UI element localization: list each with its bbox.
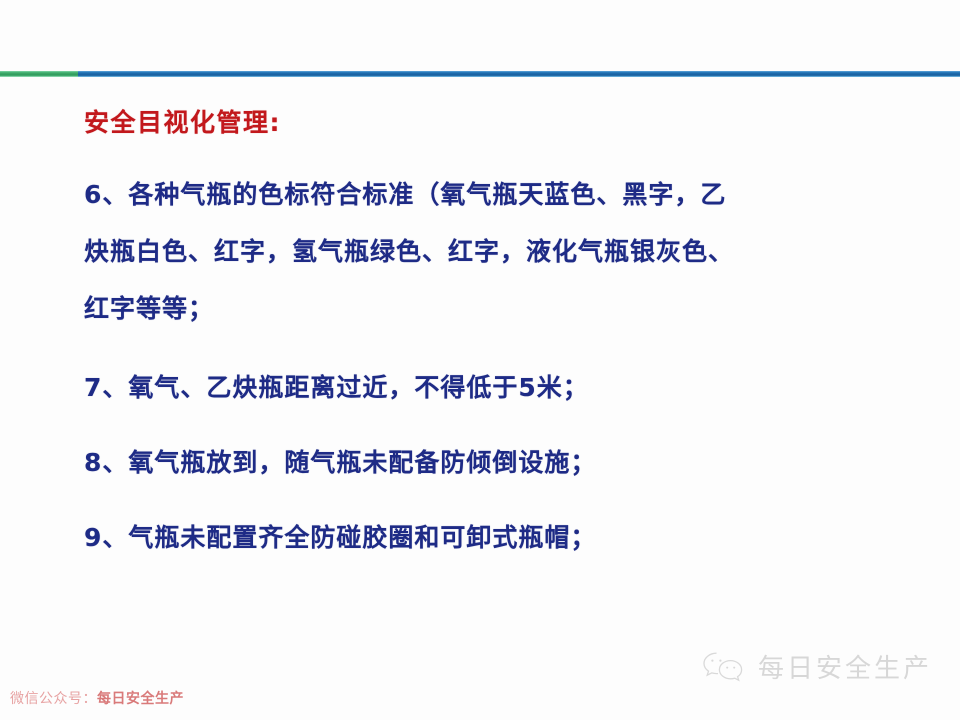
watermark-credit: 微信公众号：每日安全生产 [10,688,184,708]
list-item: 6、各种气瓶的色标符合标准（氧气瓶天蓝色、黑字，乙 炔瓶白色、红字，氢气瓶绿色、… [84,166,914,337]
slide-title: 安全目视化管理: [84,104,914,142]
brand-watermark: 每日安全生产 [700,648,932,685]
bullet-list: 6、各种气瓶的色标符合标准（氧气瓶天蓝色、黑字，乙 炔瓶白色、红字，氢气瓶绿色、… [84,166,914,566]
accent-segment-blue [78,71,960,77]
top-accent-rule [0,71,960,77]
list-item: 7、氧气、乙炔瓶距离过近，不得低于5米； [84,359,914,416]
watermark-account-name: 每日安全生产 [97,691,184,707]
slide-canvas: 安全目视化管理: 6、各种气瓶的色标符合标准（氧气瓶天蓝色、黑字，乙 炔瓶白色、… [0,0,960,720]
brand-name: 每日安全生产 [758,648,932,685]
list-item: 9、气瓶未配置齐全防碰胶圈和可卸式瓶帽； [84,509,914,566]
accent-segment-green [0,71,78,77]
watermark-label: 微信公众号： [10,691,97,707]
slide-content: 安全目视化管理: 6、各种气瓶的色标符合标准（氧气瓶天蓝色、黑字，乙 炔瓶白色、… [84,104,914,566]
wechat-icon [700,650,746,684]
list-item: 8、氧气瓶放到，随气瓶未配备防倾倒设施； [84,434,914,491]
